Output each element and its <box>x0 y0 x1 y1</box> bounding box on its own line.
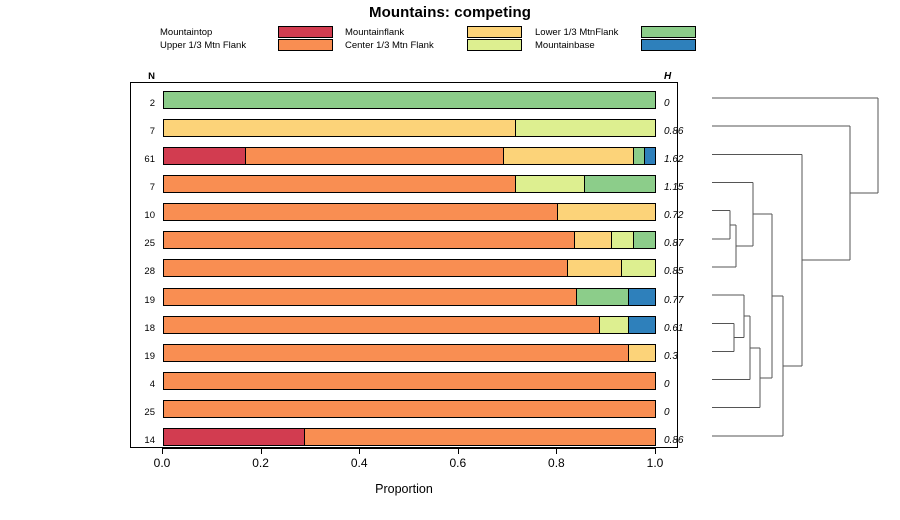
legend-item-upper-third[interactable]: Upper 1/3 Mtn Flank <box>160 39 342 52</box>
bar-segment-mountainbase <box>644 148 655 164</box>
table-row: 2PEQUOP0 <box>131 86 679 114</box>
x-tick-label: 0.0 <box>142 456 182 470</box>
legend-item-mountainbase[interactable]: Mountainbase <box>535 39 685 52</box>
dendrogram-svg <box>690 82 900 448</box>
bar-segment-upper-third <box>164 289 576 305</box>
bar-segment-mountainflank <box>574 232 611 248</box>
table-row: 28VITALE0.85 <box>131 254 679 282</box>
row-n-value: 7 <box>127 170 155 198</box>
row-n-value: 19 <box>127 283 155 311</box>
x-tick-label: 0.4 <box>339 456 379 470</box>
legend-item-center-third[interactable]: Center 1/3 Mtn Flank <box>345 39 530 52</box>
bar-segment-center-third <box>621 260 655 276</box>
stacked-bar <box>163 428 656 446</box>
stacked-bar <box>163 316 656 334</box>
x-tick <box>359 448 360 454</box>
bar-segment-mountainflank <box>557 204 655 220</box>
bar-segment-upper-third <box>164 260 567 276</box>
x-tick-label: 0.8 <box>536 456 576 470</box>
bar-segment-lower-third <box>633 148 644 164</box>
table-row: 25HEENLAKE0 <box>131 395 679 423</box>
x-tick <box>458 448 459 454</box>
x-tick-label: 1.0 <box>635 456 675 470</box>
bar-segment-lower-third <box>576 289 628 305</box>
bar-segment-mountainflank <box>628 345 655 361</box>
legend-label-mountainflank: Mountainflank <box>345 26 404 39</box>
bar-segment-mountaintop <box>164 429 304 445</box>
column-header-n: N <box>127 71 155 82</box>
row-n-value: 61 <box>127 142 155 170</box>
legend-item-mountainflank[interactable]: Mountainflank <box>345 26 530 39</box>
row-n-value: 19 <box>127 339 155 367</box>
x-tick-label: 0.6 <box>438 456 478 470</box>
stacked-bar <box>163 91 656 109</box>
bar-segment-upper-third <box>164 401 655 417</box>
stacked-bar <box>163 175 656 193</box>
plot-area: N H 2PEQUOP07CLANALPINE0.8661VALMAR1.627… <box>130 82 678 448</box>
bar-segment-center-third <box>515 120 655 136</box>
x-axis-label: Proportion <box>130 482 678 496</box>
x-tick-label: 0.2 <box>241 456 281 470</box>
row-n-value: 10 <box>127 198 155 226</box>
bar-segment-mountainflank <box>164 120 515 136</box>
bar-segment-lower-third <box>164 92 655 108</box>
table-row: 7CLANALPINE0.86 <box>131 114 679 142</box>
bar-segment-center-third <box>515 176 584 192</box>
x-tick <box>261 448 262 454</box>
legend-swatch-mountainbase <box>641 39 696 51</box>
stacked-bar <box>163 119 656 137</box>
bar-segment-upper-third <box>164 232 574 248</box>
stacked-bar <box>163 147 656 165</box>
x-tick <box>655 448 656 454</box>
bar-segment-upper-third <box>304 429 655 445</box>
legend-swatch-center-third <box>467 39 522 51</box>
bar-segment-upper-third <box>164 204 557 220</box>
stacked-bar <box>163 288 656 306</box>
legend-column-1: MountainflankCenter 1/3 Mtn Flank <box>345 26 530 52</box>
legend-column-2: Lower 1/3 MtnFlankMountainbase <box>535 26 685 52</box>
row-n-value: 4 <box>127 367 155 395</box>
stacked-bar <box>163 259 656 277</box>
stacked-bar <box>163 203 656 221</box>
page-title: Mountains: competing <box>0 4 900 21</box>
legend-swatch-upper-third <box>278 39 333 51</box>
table-row: 25HORROCKS0.87 <box>131 226 679 254</box>
stacked-bar <box>163 231 656 249</box>
table-row: 10SUAK0.72 <box>131 198 679 226</box>
row-n-value: 25 <box>127 395 155 423</box>
legend-label-mountaintop: Mountaintop <box>160 26 212 39</box>
legend-label-center-third: Center 1/3 Mtn Flank <box>345 39 434 52</box>
legend-swatch-lower-third <box>641 26 696 38</box>
table-row: 61VALMAR1.62 <box>131 142 679 170</box>
row-n-value: 7 <box>127 114 155 142</box>
stacked-bar <box>163 344 656 362</box>
stacked-bar <box>163 372 656 390</box>
legend: MountaintopUpper 1/3 Mtn FlankMountainfl… <box>160 26 680 52</box>
table-row: 4LONGDAY0 <box>131 367 679 395</box>
bar-segment-mountainbase <box>628 317 655 333</box>
column-header-h: H <box>664 71 710 82</box>
bar-segment-mountainbase <box>628 289 655 305</box>
row-n-value: 28 <box>127 254 155 282</box>
bar-segment-upper-third <box>164 176 515 192</box>
x-tick <box>162 448 163 454</box>
bar-segment-upper-third <box>164 345 628 361</box>
bar-segment-center-third <box>599 317 628 333</box>
stacked-bar <box>163 400 656 418</box>
legend-column-0: MountaintopUpper 1/3 Mtn Flank <box>160 26 342 52</box>
row-n-value: 25 <box>127 226 155 254</box>
legend-label-lower-third: Lower 1/3 MtnFlank <box>535 26 618 39</box>
bar-segment-mountaintop <box>164 148 245 164</box>
chart-root: Mountains: competing MountaintopUpper 1/… <box>0 0 900 520</box>
legend-swatch-mountaintop <box>278 26 333 38</box>
bar-segment-upper-third <box>245 148 503 164</box>
table-row: 19HOWCAN0.77 <box>131 283 679 311</box>
x-axis: 0.00.20.40.60.81.0 <box>130 448 678 450</box>
dendrogram <box>690 82 900 448</box>
bar-segment-center-third <box>611 232 633 248</box>
bar-segment-mountainflank <box>503 148 633 164</box>
x-axis-line <box>162 448 655 449</box>
legend-item-lower-third[interactable]: Lower 1/3 MtnFlank <box>535 26 685 39</box>
bar-segment-mountainflank <box>567 260 621 276</box>
bar-segment-lower-third <box>584 176 655 192</box>
x-tick <box>556 448 557 454</box>
table-row: 7HOLMES1.15 <box>131 170 679 198</box>
bar-segment-upper-third <box>164 373 655 389</box>
legend-label-upper-third: Upper 1/3 Mtn Flank <box>160 39 246 52</box>
bar-segment-upper-third <box>164 317 599 333</box>
bar-segment-lower-third <box>633 232 655 248</box>
row-n-value: 2 <box>127 86 155 114</box>
legend-item-mountaintop[interactable]: Mountaintop <box>160 26 342 39</box>
legend-swatch-mountainflank <box>467 26 522 38</box>
legend-label-mountainbase: Mountainbase <box>535 39 595 52</box>
row-n-value: 18 <box>127 311 155 339</box>
table-row: 18HOSKIN0.61 <box>131 311 679 339</box>
table-row: 19ELAERO0.3 <box>131 339 679 367</box>
